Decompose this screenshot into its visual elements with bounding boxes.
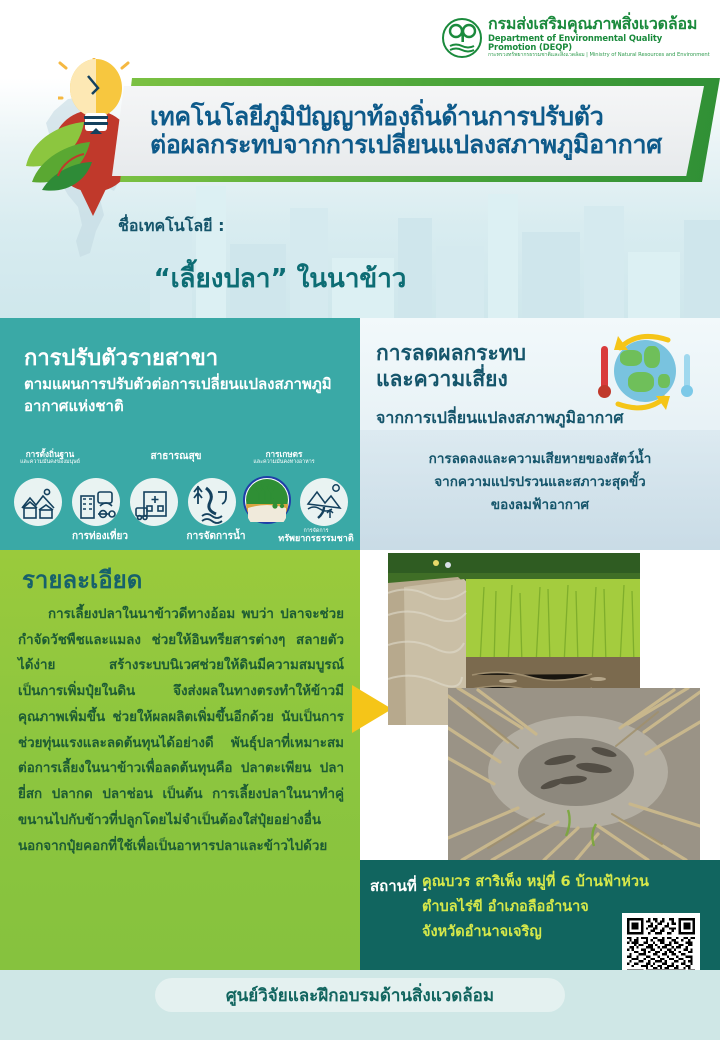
location-label: สถานที่ : — [370, 874, 428, 898]
details-body-text: การเลี้ยงปลาในนาข้าวดีทางอ้อม พบว่า ปลาจ… — [18, 602, 344, 859]
page-title-line2: ต่อผลกระทบจากการเปลี่ยนแปลงสภาพภูมิอากาศ — [150, 131, 704, 159]
deqp-logo: กรมส่งเสริมคุณภาพสิ่งแวดล้อม Department … — [442, 16, 710, 70]
location-line1: คุณบวร สาริเพ็ง หมู่ที่ 6 บ้านฟ้าห่วน — [422, 870, 672, 895]
natural-resources-icon[interactable] — [300, 478, 348, 526]
impact-panel-heading: การลดผลกระทบ และความเสี่ยง — [376, 340, 526, 393]
sector-caption-agriculture: การเกษตร และความมั่นคงทางอาหาร — [232, 450, 336, 465]
skyline-building — [628, 252, 680, 318]
ministry-line: กระทรวงทรัพยากรธรรมชาติและสิ่งแวดล้อม | … — [488, 53, 710, 58]
settlement-icon[interactable] — [14, 478, 62, 526]
sector-caption-settlement: การตั้งถิ่นฐาน และความมั่นคงของมนุษย์ — [2, 450, 98, 465]
sector-caption-natural-resources: การจัดการ ทรัพยากรธรรมชาติ — [272, 528, 360, 544]
sector-caption-public-health: สาธารณสุข — [128, 452, 224, 463]
details-section: รายละเอียด การเลี้ยงปลาในนาข้าวดีทางอ้อม… — [0, 550, 360, 970]
impact-body-line2: จากความแปรปรวนและสภาวะสุดขั้ว — [360, 471, 720, 494]
impact-reduction-panel: การลดผลกระทบ และความเสี่ยง จากการเปลี่ยน… — [360, 318, 720, 550]
sector-panel-subheading: ตามแผนการปรับตัวต่อการเปลี่ยนแปลงสภาพภูม… — [24, 374, 344, 418]
org-name-english: Department of Environmental Quality Prom… — [488, 34, 710, 52]
sector-caption-water: การจัดการน้ำ — [164, 532, 268, 543]
yellow-arrow-icon — [352, 685, 392, 733]
tourism-icon[interactable] — [72, 478, 120, 526]
sector-panel-heading: การปรับตัวรายสาขา — [24, 340, 218, 375]
thermometer-hot-icon — [601, 346, 608, 390]
impact-panel-subheading: จากการเปลี่ยนแปลงสภาพภูมิอากาศ — [376, 406, 624, 431]
impact-body-line3: ของลมฟ้าอากาศ — [360, 494, 720, 517]
poster-root: กรมส่งเสริมคุณภาพสิ่งแวดล้อม Department … — [0, 0, 720, 1040]
impact-body-line1: การลดลงและความเสียหายของสัตว์น้ำ — [360, 448, 720, 471]
ribbon-inner: เทคโนโลยีภูมิปัญญาท้องถิ่นด้านการปรับตัว… — [112, 86, 704, 176]
impact-heading-line1: การลดผลกระทบ — [376, 341, 526, 365]
public-health-icon[interactable] — [130, 478, 178, 526]
technology-name-value: “เลี้ยงปลา” ในนาข้าว — [0, 258, 560, 299]
org-name-thai: กรมส่งเสริมคุณภาพสิ่งแวดล้อม — [488, 16, 710, 33]
details-heading: รายละเอียด — [22, 560, 142, 599]
page-title-line1: เทคโนโลยีภูมิปัญญาท้องถิ่นด้านการปรับตัว — [150, 103, 704, 131]
footer-text: ศูนย์วิจัยและฝึกอบรมด้านสิ่งแวดล้อม — [226, 982, 494, 1009]
impact-panel-body: การลดลงและความเสียหายของสัตว์น้ำ จากความ… — [360, 448, 720, 517]
title-ribbon: เทคโนโลยีภูมิปัญญาท้องถิ่นด้านการปรับตัว… — [120, 78, 720, 182]
deqp-seal-icon — [442, 18, 482, 58]
impact-heading-line2: และความเสี่ยง — [376, 367, 508, 391]
sector-icon-row: การตั้งถิ่นฐาน และความมั่นคงของมนุษย์ สา… — [0, 448, 360, 550]
technology-name-label: ชื่อเทคโนโลยี : — [118, 214, 224, 239]
green-leaves-icon — [22, 118, 118, 204]
water-management-icon[interactable] — [188, 478, 236, 526]
skyline-building — [684, 220, 720, 318]
thermometer-cold-icon — [684, 354, 690, 390]
agriculture-icon[interactable] — [243, 476, 291, 524]
sector-caption-tourism: การท่องเที่ยว — [48, 532, 152, 543]
skyline-building — [488, 194, 518, 318]
footer-pill: ศูนย์วิจัยและฝึกอบรมด้านสิ่งแวดล้อม — [155, 978, 565, 1012]
fish-in-paddy-mud-photo — [448, 688, 700, 860]
skyline-building — [584, 206, 624, 318]
